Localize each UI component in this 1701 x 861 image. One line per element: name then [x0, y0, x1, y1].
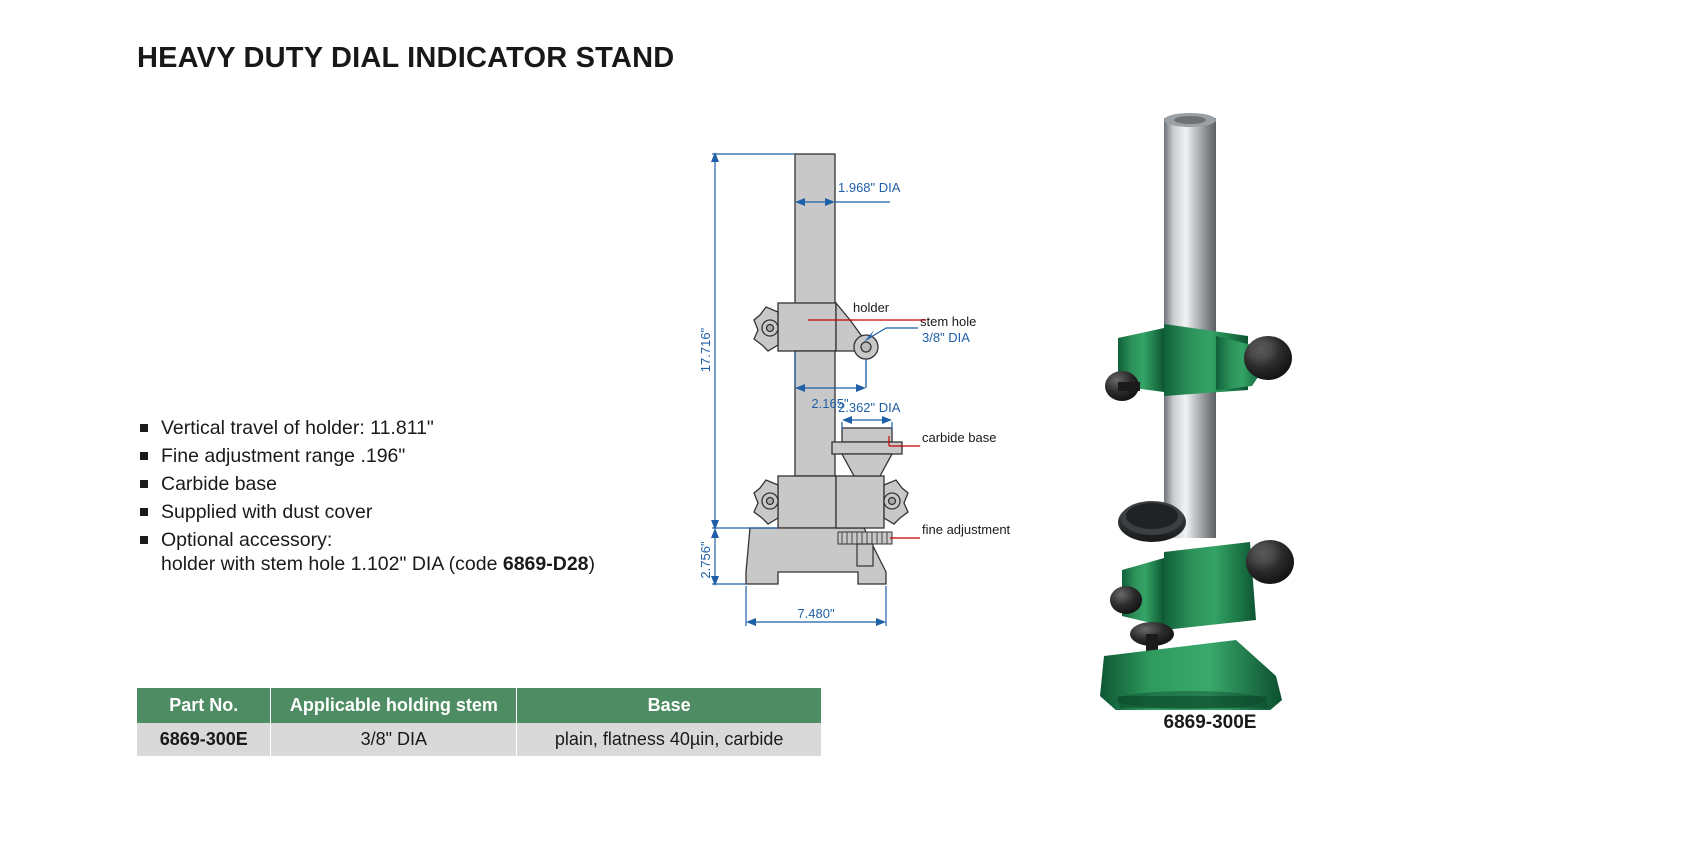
- accessory-prefix: holder with stem hole 1.102" DIA (code: [161, 553, 503, 575]
- feature-text: Vertical travel of holder: 11.811": [161, 416, 434, 440]
- photo-caption: 6869-300E: [1060, 712, 1360, 734]
- square-bullet-icon: [140, 424, 148, 432]
- feature-text: Supplied with dust cover: [161, 500, 372, 524]
- callout-holder: holder: [853, 300, 890, 315]
- table-header-row: Part No. Applicable holding stem Base: [137, 688, 821, 723]
- dimension-base-width: 7.480": [797, 606, 835, 621]
- accessory-code: 6869-D28: [503, 553, 589, 575]
- list-item: Supplied with dust cover: [140, 500, 700, 524]
- cell-stem: 3/8" DIA: [271, 723, 517, 756]
- square-bullet-icon: [140, 452, 148, 460]
- dimension-stem-hole-dia: 3/8" DIA: [922, 330, 970, 345]
- cell-base: plain, flatness 40µin, carbide: [517, 723, 821, 756]
- square-bullet-icon: [140, 508, 148, 516]
- callout-fine-adjustment: fine adjustment: [922, 522, 1011, 537]
- column-header-base: Base: [517, 688, 821, 723]
- dimension-base-pad-dia-text: 2.362" DIA: [838, 400, 901, 415]
- dimension-column-dia: 1.968" DIA: [838, 180, 901, 195]
- table-row: 6869-300E 3/8" DIA plain, flatness 40µin…: [137, 723, 821, 756]
- list-item: Fine adjustment range .196": [140, 444, 700, 468]
- square-bullet-icon: [140, 536, 148, 544]
- feature-text: Carbide base: [161, 472, 277, 496]
- list-item: Carbide base: [140, 472, 700, 496]
- callout-carbide-base: carbide base: [922, 430, 996, 445]
- feature-text: Optional accessory:: [161, 529, 332, 551]
- square-bullet-icon: [140, 480, 148, 488]
- feature-text: Fine adjustment range .196": [161, 444, 405, 468]
- column-header-stem: Applicable holding stem: [271, 688, 517, 723]
- spec-table: Part No. Applicable holding stem Base 68…: [137, 688, 821, 756]
- callout-stem-hole-label: stem hole: [920, 314, 976, 329]
- technical-drawing: 1.968" DIA 17.716" 2.165" 2.362" DIA 2.7…: [690, 140, 1050, 650]
- feature-list: Vertical travel of holder: 11.811" Fine …: [140, 416, 700, 580]
- datasheet-page: HEAVY DUTY DIAL INDICATOR STAND Vertical…: [0, 0, 1701, 861]
- dimension-base-height: 2.756": [698, 541, 713, 579]
- feature-subtext: holder with stem hole 1.102" DIA (code 6…: [161, 552, 595, 576]
- column-header-part-no: Part No.: [137, 688, 271, 723]
- page-title: HEAVY DUTY DIAL INDICATOR STAND: [137, 42, 674, 75]
- dimension-total-height: 17.716": [698, 327, 713, 372]
- accessory-suffix: ): [589, 553, 596, 575]
- cell-part-no: 6869-300E: [137, 723, 271, 756]
- list-item: Optional accessory: holder with stem hol…: [140, 528, 700, 576]
- product-photo: [1060, 100, 1360, 710]
- list-item: Vertical travel of holder: 11.811": [140, 416, 700, 440]
